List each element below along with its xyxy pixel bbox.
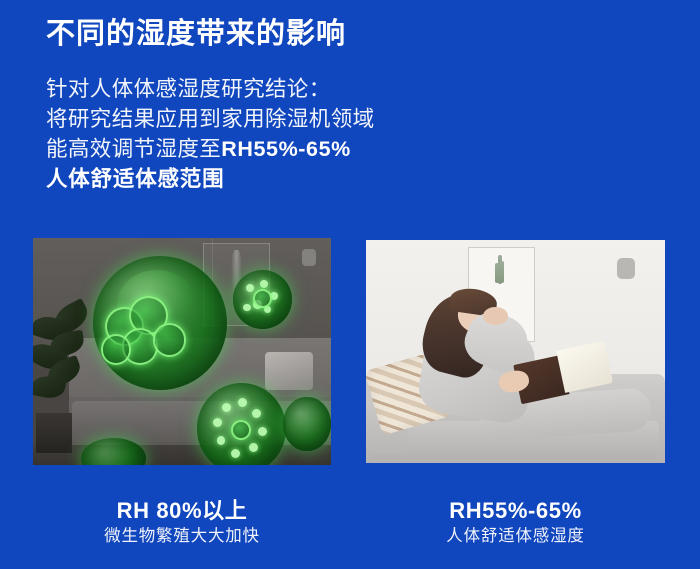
dark-room-scene <box>33 238 331 465</box>
microbe-blob-small <box>233 270 293 329</box>
body-line-3-prefix: 能高效调节湿度至 <box>46 137 221 161</box>
woman-reading <box>384 271 659 449</box>
hand-at-forehead <box>483 307 508 325</box>
wall-thermostat <box>302 249 316 266</box>
microbe-blob-edge <box>283 397 331 451</box>
caption-right-main: RH55%-65% <box>366 497 665 524</box>
page-title: 不同的湿度带来的影响 <box>46 17 346 52</box>
bright-room-scene <box>366 240 665 463</box>
caption-right: RH55%-65% 人体舒适体感湿度 <box>366 497 665 548</box>
microbe-blob-bottom <box>197 383 286 465</box>
humidity-range-highlight: RH55%-65% <box>221 137 351 161</box>
body-copy: 针对人体体感湿度研究结论： 将研究结果应用到家用除湿机领域 能高效调节湿度至RH… <box>46 74 375 194</box>
photo-left-high-humidity <box>33 238 331 465</box>
body-line-2: 将研究结果应用到家用除湿机领域 <box>46 104 375 134</box>
slide-root: 不同的湿度带来的影响 针对人体体感湿度研究结论： 将研究结果应用到家用除湿机领域… <box>0 0 700 569</box>
caption-right-sub: 人体舒适体感湿度 <box>366 524 665 548</box>
microbe-blob-large <box>93 256 227 390</box>
caption-left-main: RH 80%以上 <box>33 497 331 524</box>
body-line-1: 针对人体体感湿度研究结论： <box>46 74 375 104</box>
caption-left-sub: 微生物繁殖大大加快 <box>33 524 331 548</box>
body-line-4: 人体舒适体感范围 <box>46 164 375 194</box>
caption-left: RH 80%以上 微生物繁殖大大加快 <box>33 497 331 548</box>
body-line-3: 能高效调节湿度至RH55%-65% <box>46 134 375 164</box>
photo-right-comfort-humidity <box>366 240 665 463</box>
plant-pot <box>36 413 72 453</box>
sofa-cushion <box>265 352 313 391</box>
